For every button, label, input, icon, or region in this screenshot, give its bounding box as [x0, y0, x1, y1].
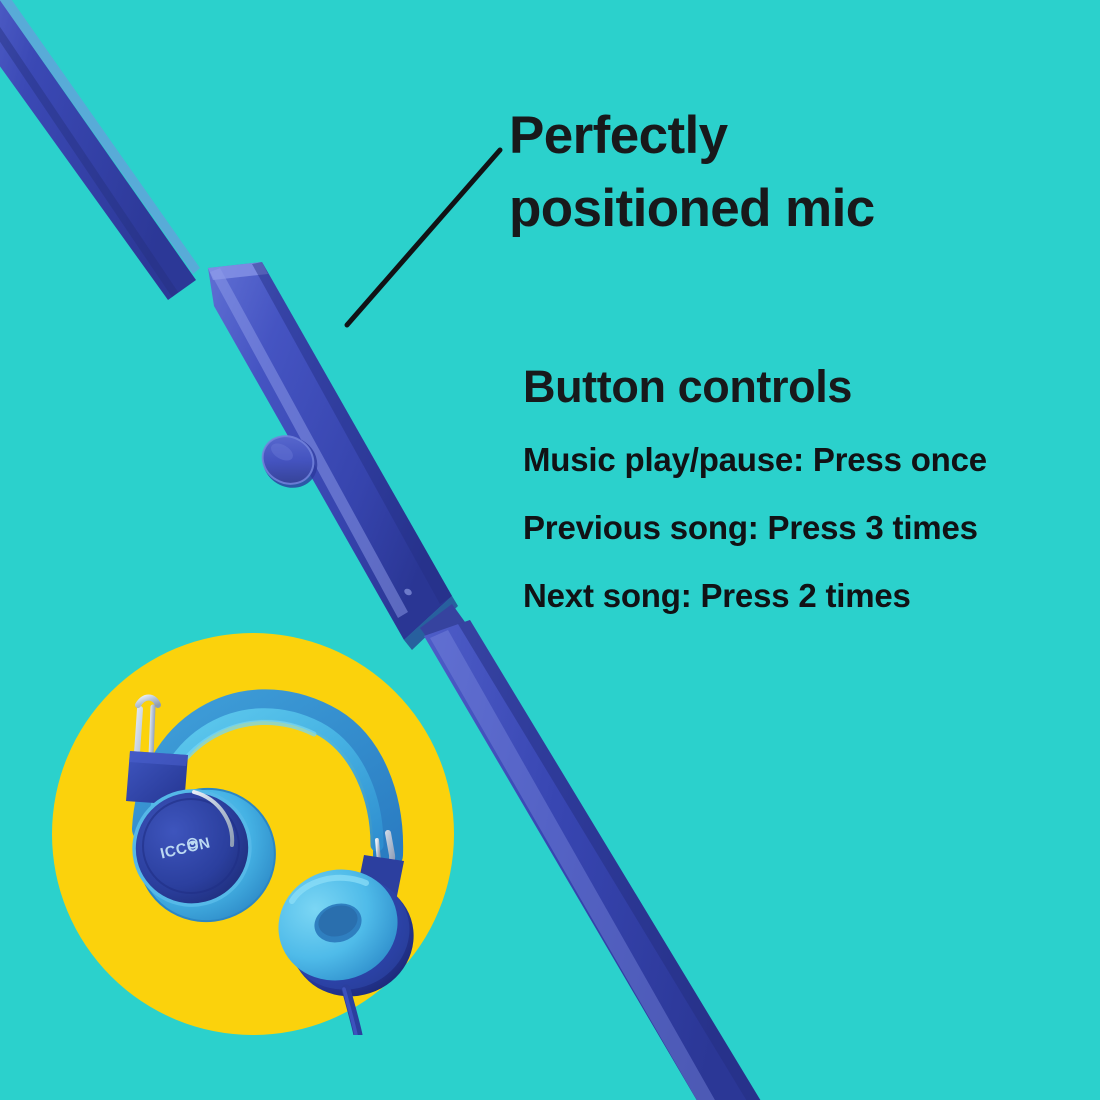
list-item: Previous song: Press 3 times	[523, 511, 1083, 544]
headline-block: Perfectly positioned mic	[509, 99, 1069, 245]
button-controls-list: Music play/pause: Press once Previous so…	[523, 443, 1083, 612]
list-item: Next song: Press 2 times	[523, 579, 1083, 612]
section-title-button-controls: Button controls	[523, 361, 852, 413]
headline-line-2: positioned mic	[509, 172, 1069, 245]
leader-line	[347, 150, 500, 325]
headline-line-1: Perfectly	[509, 99, 1069, 172]
list-item: Music play/pause: Press once	[523, 443, 1083, 476]
infographic-canvas: ICCON	[0, 0, 1100, 1100]
